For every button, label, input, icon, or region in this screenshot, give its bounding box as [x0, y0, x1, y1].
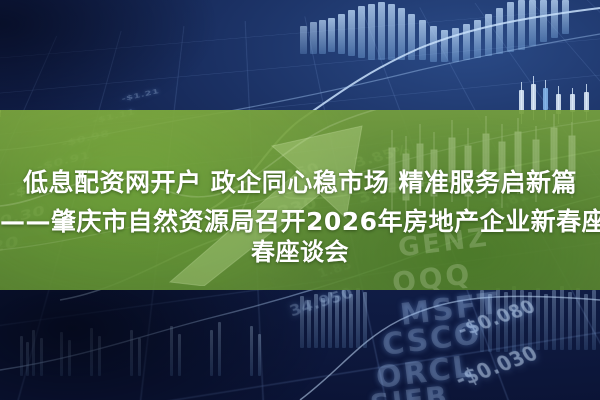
headline-line-2: ——肇庆市自然资源局召开2026年房地产企业新春座谈会 [0, 209, 600, 234]
headline-line-3: 春座谈会 [0, 240, 600, 264]
news-header-banner: -$1.21 -$1.11 -$0.98 -$0.91 -$0.50 -$0.3… [0, 0, 600, 400]
headline-line-1: 低息配资网开户 政企同心稳市场 精准服务启新篇 [0, 170, 600, 195]
